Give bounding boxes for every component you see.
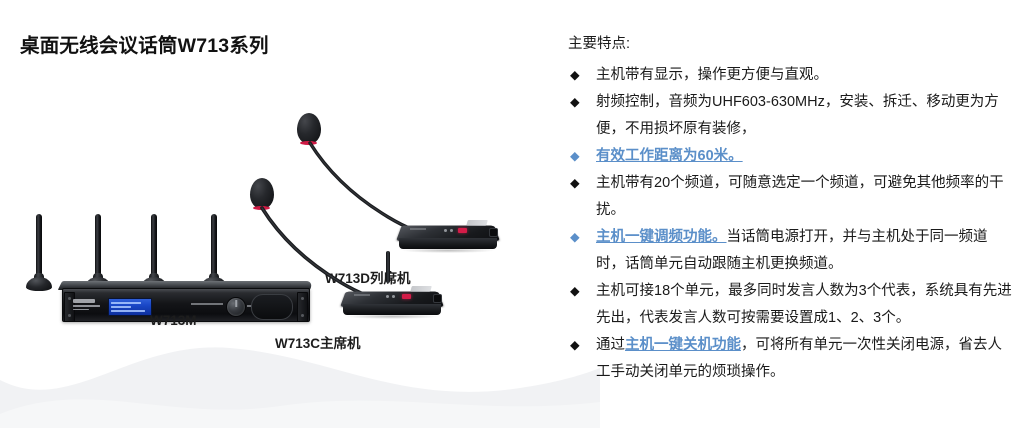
brand-logo <box>73 299 101 313</box>
feature-highlight-text: 有效工作距离为60米。 <box>596 148 743 164</box>
feature-text: 通过 <box>596 337 625 353</box>
feature-highlight-text: 主机一键关机功能 <box>625 337 741 353</box>
status-led-icon <box>450 229 453 232</box>
status-led-icon <box>386 295 389 298</box>
antenna-3 <box>141 211 167 291</box>
brand-logo <box>466 220 488 226</box>
antenna-1 <box>26 211 52 291</box>
talk-button[interactable] <box>402 294 411 299</box>
antenna-rod <box>36 214 42 280</box>
diamond-bullet-icon: ◆ <box>570 278 580 305</box>
antenna-4 <box>201 211 227 291</box>
antenna-rod <box>151 214 157 280</box>
features-heading: 主要特点: <box>568 36 1014 53</box>
feature-text: 射频控制，音频为UHF603-630MHz，安装、拆迁、移动更为方便，不用损坏原… <box>596 94 999 137</box>
diamond-bullet-icon: ◆ <box>570 89 580 116</box>
caption-w713c: W713C主席机 <box>275 332 361 352</box>
caption-w713m: W713M <box>150 313 197 328</box>
connector-port <box>489 228 498 237</box>
lcd-display <box>108 298 152 316</box>
feature-text: 主机带有20个频道，可随意选定一个频道，可避免其他频率的干扰。 <box>596 175 1004 218</box>
feature-item: ◆主机带有20个频道，可随意选定一个频道，可避免其他频率的干扰。 <box>568 170 1014 224</box>
antenna-2 <box>85 211 111 291</box>
page-title: 桌面无线会议话筒W713系列 <box>20 29 269 58</box>
connector-port <box>433 294 442 303</box>
diamond-bullet-icon: ◆ <box>570 224 580 251</box>
antenna-rod <box>95 214 101 280</box>
features-list: ◆主机带有显示，操作更方便与直观。◆射频控制，音频为UHF603-630MHz，… <box>568 62 1014 386</box>
talk-button[interactable] <box>458 228 467 233</box>
feature-highlight-text: 主机一键调频功能。 <box>596 229 727 245</box>
unit-antenna <box>386 251 390 283</box>
diamond-bullet-icon: ◆ <box>570 62 580 89</box>
feature-text: 主机可接18个单元，最多同时发言人数为3个代表，系统具有先进先出，代表发言人数可… <box>596 283 1012 326</box>
diamond-bullet-icon: ◆ <box>570 332 580 359</box>
status-led-icon <box>392 295 395 298</box>
brand-logo <box>410 286 432 292</box>
antenna-base <box>26 277 52 291</box>
model-text-mark <box>354 294 370 296</box>
status-led-icon <box>444 229 447 232</box>
features-panel: 主要特点: ◆主机带有显示，操作更方便与直观。◆射频控制，音频为UHF603-6… <box>568 36 1014 386</box>
model-text-mark <box>410 228 426 230</box>
feature-text: 主机带有显示，操作更方便与直观。 <box>596 67 828 83</box>
product-datasheet-page: 桌面无线会议话筒W713系列 <box>0 0 1024 428</box>
diamond-bullet-icon: ◆ <box>570 143 580 170</box>
chairman-unit-base <box>340 279 444 319</box>
microphone-windscreen <box>297 113 321 144</box>
base-drop-shadow <box>402 248 494 253</box>
delegate-unit-base <box>396 213 500 253</box>
antenna-rod <box>211 214 217 280</box>
product-image-group: W713M W713D列席机 <box>0 55 556 395</box>
feature-item: ◆通过主机一键关机功能，可将所有单元一次性关闭电源，省去人工手动关闭单元的烦琐操… <box>568 332 1014 386</box>
feature-item: ◆主机可接18个单元，最多同时发言人数为3个代表，系统具有先进先出，代表发言人数… <box>568 278 1014 332</box>
rotary-select-knob[interactable] <box>226 297 246 317</box>
feature-item: ◆主机带有显示，操作更方便与直观。 <box>568 62 1014 89</box>
base-drop-shadow <box>346 314 438 319</box>
microphone-windscreen <box>250 178 274 209</box>
feature-item: ◆主机一键调频功能。当话筒电源打开，并与主机处于同一频道时，话筒单元自动跟随主机… <box>568 224 1014 278</box>
knob-label-text <box>191 303 223 305</box>
feature-item: ◆射频控制，音频为UHF603-630MHz，安装、拆迁、移动更为方便，不用损坏… <box>568 89 1014 143</box>
diamond-bullet-icon: ◆ <box>570 170 580 197</box>
feature-item: ◆有效工作距离为60米。 <box>568 143 1014 170</box>
